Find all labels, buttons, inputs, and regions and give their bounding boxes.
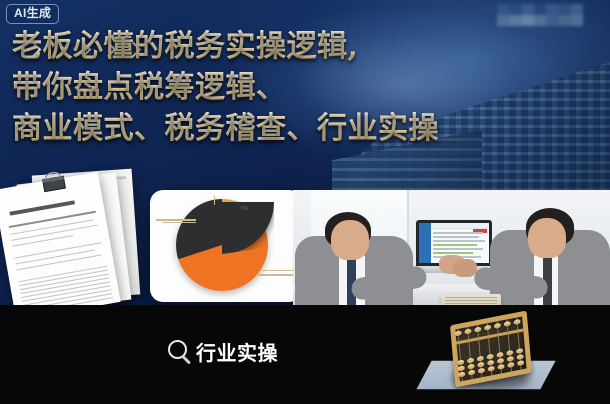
documents-group xyxy=(0,168,148,308)
watermark-tile xyxy=(534,15,546,26)
watermark-tile xyxy=(571,4,583,15)
abacus-group xyxy=(418,312,558,398)
blurred-watermark xyxy=(497,4,583,26)
watermark-tile xyxy=(558,15,570,26)
handshake-photo xyxy=(293,190,610,310)
watermark-tile xyxy=(558,4,570,15)
headline-line-2: 带你盘点税筹逻辑、 xyxy=(12,67,598,108)
watermark-tile xyxy=(497,4,509,15)
search-icon[interactable] xyxy=(168,340,194,366)
ai-generated-badge: AI生成 xyxy=(6,4,59,24)
binder-clip-icon xyxy=(38,168,68,194)
pie-leader-label-right xyxy=(258,274,298,276)
headline-line-1: 老板必懂的税务实操逻辑, xyxy=(12,26,598,67)
document-rule xyxy=(12,235,73,247)
search-label-group[interactable]: 行业实操 xyxy=(168,340,278,366)
hand-right xyxy=(453,259,477,277)
headline-line-3: 商业模式、税务稽查、行业实操 xyxy=(12,108,598,149)
poster-canvas: AI生成 老板必懂的税务实操逻辑, 带你盘点税筹逻辑、 商业模式、税务稽查、行业… xyxy=(0,0,610,404)
pie-leader-line-top xyxy=(214,196,215,205)
watermark-tile xyxy=(522,15,534,26)
pie-slice-gold-value: 5% xyxy=(241,206,248,212)
person-left xyxy=(293,190,443,310)
watermark-tile xyxy=(546,4,558,15)
watermark-tile xyxy=(522,4,534,15)
watermark-tile xyxy=(571,15,583,26)
document-title-line xyxy=(9,200,75,215)
headline-block: 老板必懂的税务实操逻辑, 带你盘点税筹逻辑、 商业模式、税务稽查、行业实操 xyxy=(12,26,598,149)
pie-leader-line-right xyxy=(262,270,294,271)
pie-chart-card: 5% xyxy=(150,190,302,302)
watermark-tile xyxy=(497,15,509,26)
pie-leader-label-left xyxy=(156,219,196,221)
pie-leader-line-left xyxy=(162,222,196,223)
watermark-tile xyxy=(509,15,521,26)
person-right xyxy=(460,190,610,310)
watermark-tile xyxy=(509,4,521,15)
watermark-tile xyxy=(534,4,546,15)
search-label: 行业实操 xyxy=(196,342,278,364)
watermark-tile xyxy=(546,15,558,26)
